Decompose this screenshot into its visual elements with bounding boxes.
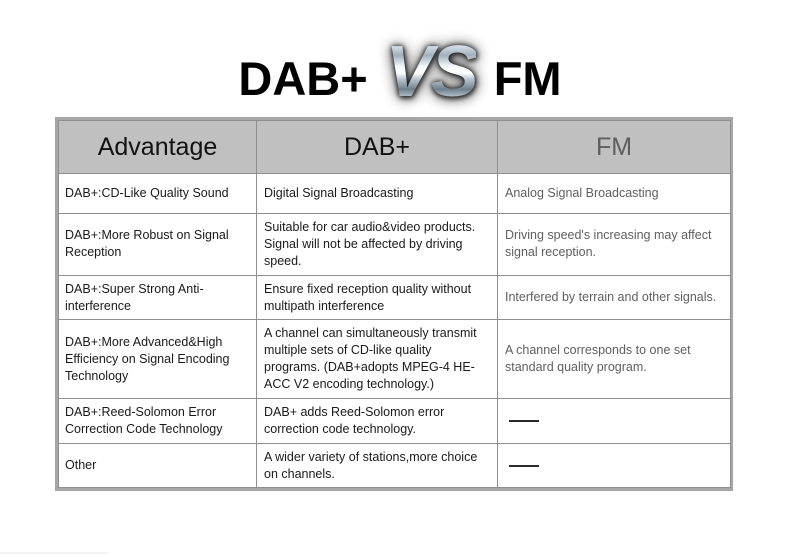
cell-advantage: DAB+:More Robust on Signal Reception (59, 214, 257, 276)
cell-advantage: DAB+:CD-Like Quality Sound (59, 174, 257, 214)
title-dab-plus: DAB+ (238, 55, 367, 110)
cell-fm: Driving speed's increasing may affect si… (498, 214, 731, 276)
cell-fm-dash (498, 398, 731, 443)
comparison-table: Advantage DAB+ FM DAB+:CD-Like Quality S… (55, 117, 733, 491)
table-row: DAB+:More Advanced&High Efficiency on Si… (59, 320, 731, 399)
cell-fm: A channel corresponds to one set standar… (498, 320, 731, 399)
cell-advantage: Other (59, 443, 257, 488)
comparison-table-grid: Advantage DAB+ FM DAB+:CD-Like Quality S… (58, 120, 731, 488)
cell-advantage: DAB+:More Advanced&High Efficiency on Si… (59, 320, 257, 399)
table-row: DAB+:Super Strong Anti-interferenceEnsur… (59, 275, 731, 320)
dash-icon (509, 465, 539, 467)
table-row: OtherA wider variety of stations,more ch… (59, 443, 731, 488)
page-edge-artifact (0, 552, 108, 554)
cell-advantage: DAB+:Reed-Solomon Error Correction Code … (59, 398, 257, 443)
table-row: DAB+:Reed-Solomon Error Correction Code … (59, 398, 731, 443)
title-inner: DAB+ VS FM (238, 18, 561, 110)
cell-fm: Interfered by terrain and other signals. (498, 275, 731, 320)
vs-logo: VS (386, 36, 476, 110)
cell-dab: Ensure fixed reception quality without m… (257, 275, 498, 320)
cell-fm-dash (498, 443, 731, 488)
table-header-row: Advantage DAB+ FM (59, 121, 731, 174)
table-row: DAB+:CD-Like Quality SoundDigital Signal… (59, 174, 731, 214)
column-header-advantage: Advantage (59, 121, 257, 174)
cell-advantage: DAB+:Super Strong Anti-interference (59, 275, 257, 320)
dash-icon (509, 420, 539, 422)
column-header-dab: DAB+ (257, 121, 498, 174)
table-body: DAB+:CD-Like Quality SoundDigital Signal… (59, 174, 731, 488)
table-row: DAB+:More Robust on Signal ReceptionSuit… (59, 214, 731, 276)
table-header: Advantage DAB+ FM (59, 121, 731, 174)
title-bar: DAB+ VS FM (0, 18, 800, 110)
cell-dab: A channel can simultaneously transmit mu… (257, 320, 498, 399)
cell-dab: A wider variety of stations,more choice … (257, 443, 498, 488)
title-fm: FM (494, 55, 562, 110)
column-header-fm: FM (498, 121, 731, 174)
cell-dab: DAB+ adds Reed-Solomon error correction … (257, 398, 498, 443)
cell-dab: Digital Signal Broadcasting (257, 174, 498, 214)
cell-fm: Analog Signal Broadcasting (498, 174, 731, 214)
cell-dab: Suitable for car audio&video products. S… (257, 214, 498, 276)
